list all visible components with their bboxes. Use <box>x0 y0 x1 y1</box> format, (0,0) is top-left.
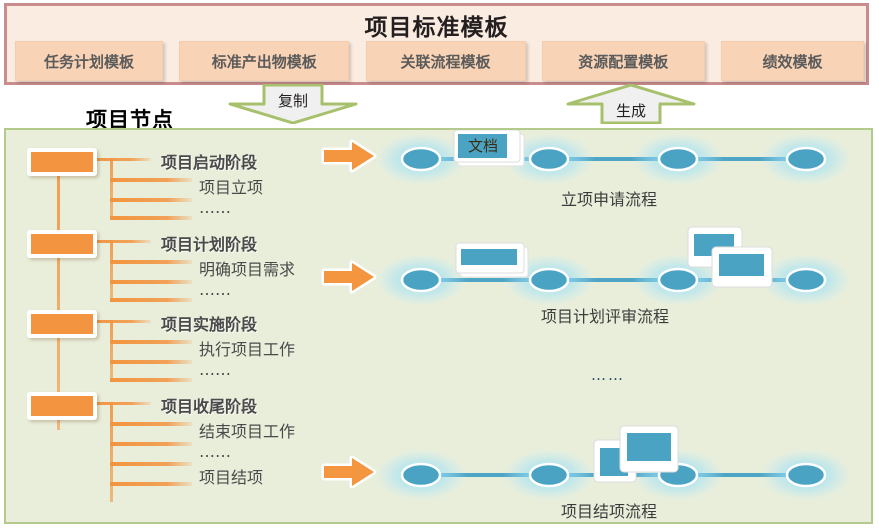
phase-item-1-2: …… <box>199 198 231 217</box>
phase-bar-1[interactable] <box>27 148 97 176</box>
flow-1: 文档 立项申请流程 <box>316 130 871 210</box>
phase-item-4-2: …… <box>199 442 231 461</box>
template-box-related-process[interactable]: 关联流程模板 <box>366 41 526 81</box>
standard-template-title: 项目标准模板 <box>7 8 866 42</box>
flow-2: 项目计划评审流程 <box>316 225 871 325</box>
flow-ellipsis: …… <box>591 366 625 384</box>
copy-arrow-label: 复制 <box>228 90 358 111</box>
generate-arrow-up-icon: 生成 <box>566 84 696 124</box>
standard-template-panel: 项目标准模板 任务计划模板 标准产出物模板 关联流程模板 资源配置模板 绩效模板 <box>4 3 869 85</box>
phase-bar-4[interactable] <box>27 392 97 420</box>
phase-item-1-1: 项目立项 <box>199 174 263 198</box>
phase-item-3-2: …… <box>199 360 231 379</box>
phase-item-4-1: 结束项目工作 <box>199 418 295 442</box>
phase-bar-2[interactable] <box>27 230 97 258</box>
phase-label-4: 项目收尾阶段 <box>161 393 257 417</box>
flow-3-arrow-icon <box>324 458 374 486</box>
flow-1-document-card-text: 文档 <box>468 135 498 156</box>
template-box-row: 任务计划模板 标准产出物模板 关联流程模板 资源配置模板 绩效模板 <box>15 41 864 81</box>
template-box-performance[interactable]: 绩效模板 <box>721 41 864 81</box>
phase-item-2-1: 明确项目需求 <box>199 256 295 280</box>
copy-arrow-down-icon: 复制 <box>228 84 358 124</box>
project-node-panel: 项目启动阶段 项目立项 …… 项目计划阶段 明确项目需求 …… 项目实施阶段 执… <box>4 128 873 524</box>
phase-label-1: 项目启动阶段 <box>161 149 257 173</box>
phase-label-3: 项目实施阶段 <box>161 311 257 335</box>
phase-bar-3[interactable] <box>27 310 97 338</box>
template-box-standard-deliverable[interactable]: 标准产出物模板 <box>179 41 349 81</box>
phase-label-2: 项目计划阶段 <box>161 231 257 255</box>
flow-1-label: 立项申请流程 <box>561 186 657 210</box>
flow-3: 项目结项流程 <box>316 400 871 520</box>
generate-arrow-label: 生成 <box>566 100 696 121</box>
template-box-task-plan[interactable]: 任务计划模板 <box>15 41 163 81</box>
phase-item-3-1: 执行项目工作 <box>199 336 295 360</box>
phase-item-2-2: …… <box>199 280 231 299</box>
phase-item-4-3: 项目结项 <box>199 464 263 488</box>
template-box-resource-config[interactable]: 资源配置模板 <box>542 41 705 81</box>
flow-1-arrow-icon <box>324 142 374 170</box>
flow-3-label: 项目结项流程 <box>561 498 657 522</box>
flow-2-label: 项目计划评审流程 <box>541 303 669 327</box>
flow-2-arrow-icon <box>324 263 374 291</box>
flow-2-single-card <box>456 243 528 277</box>
